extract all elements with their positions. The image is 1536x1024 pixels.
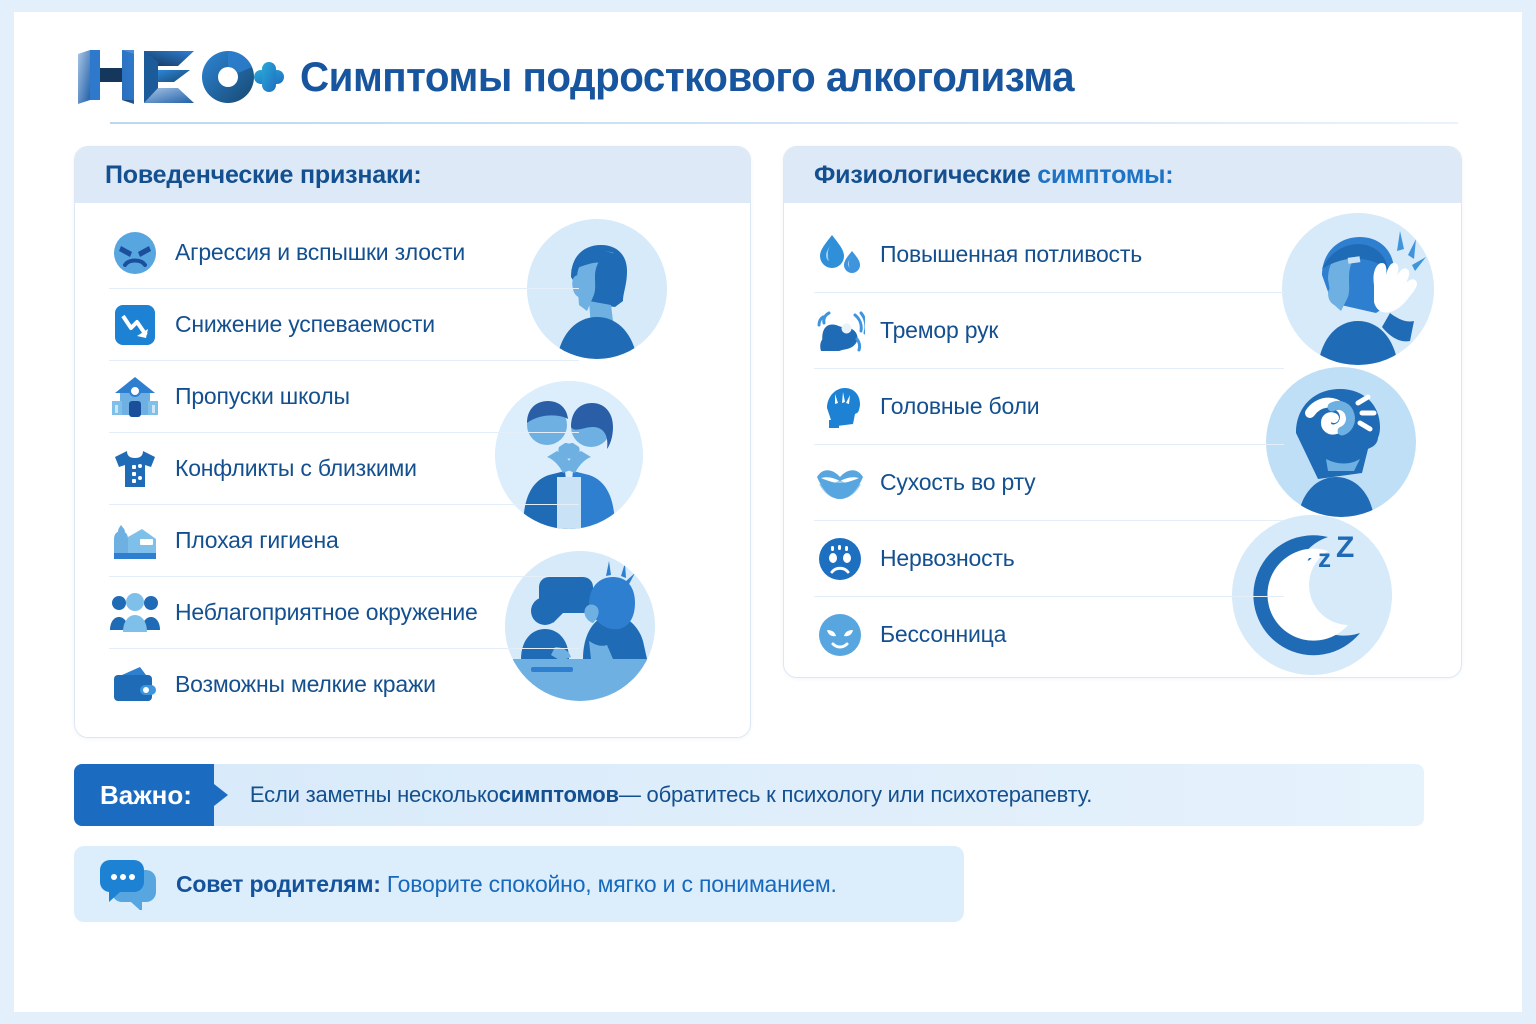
panel-header-strong: Физиологические <box>814 161 1031 189</box>
headache-illustration <box>1282 213 1434 365</box>
advice-body: Говорите спокойно, мягко и с пониманием. <box>381 871 837 897</box>
list-item[interactable]: Возможны мелкие кражи <box>109 649 579 720</box>
panels-row: Поведенческие признаки: <box>74 146 1462 738</box>
list-item-label: Плохая гигиена <box>175 527 339 554</box>
list-item-label: Агрессия и вспышки злости <box>175 239 465 266</box>
list-item[interactable]: Бессонница <box>814 597 1284 672</box>
water-drops-icon <box>814 229 866 281</box>
infographic-page: Симптомы подросткового алкоголизма Повед… <box>0 0 1536 1024</box>
svg-text:z: z <box>1318 543 1331 573</box>
worried-face-icon <box>814 533 866 585</box>
list-item[interactable]: Тремор рук <box>814 293 1284 369</box>
soap-hygiene-icon <box>109 515 161 567</box>
important-text-before: Если заметны несколько <box>250 782 499 808</box>
behavioral-item-list: Агрессия и вспышки злости Снижение усп <box>75 211 579 720</box>
panel-header-rest: симптомы: <box>1031 161 1174 189</box>
neo-plus-logo <box>74 48 284 106</box>
physiological-symptoms-panel: Физиологические симптомы: <box>783 146 1462 678</box>
important-text-bold: симптомов <box>499 782 619 808</box>
head-noise-illustration <box>1266 367 1416 517</box>
page-title: Симптомы подросткового алкоголизма <box>300 53 1074 101</box>
list-item[interactable]: Сухость во рту <box>814 445 1284 521</box>
physiological-panel-header: Физиологические симптомы: <box>784 147 1461 203</box>
list-item-label: Конфликты с близкими <box>175 455 417 482</box>
list-item-label: Пропуски школы <box>175 383 350 410</box>
list-item[interactable]: Нервозность <box>814 521 1284 597</box>
list-item-label: Неблагоприятное окружение <box>175 599 478 626</box>
tshirt-icon <box>109 443 161 495</box>
list-item[interactable]: Неблагоприятное окружение <box>109 577 579 649</box>
advice-text: Совет родителям: Говорите спокойно, мягк… <box>176 871 837 898</box>
behavioral-panel-body: Агрессия и вспышки злости Снижение усп <box>75 203 750 738</box>
group-people-icon <box>109 587 161 639</box>
speech-bubble-icon <box>100 858 158 910</box>
list-item[interactable]: Головные боли <box>814 369 1284 445</box>
svg-text:Z: Z <box>1336 531 1354 564</box>
list-item-label: Возможны мелкие кражи <box>175 671 436 698</box>
angry-face-icon <box>109 227 161 279</box>
list-item[interactable]: Агрессия и вспышки злости <box>109 217 579 289</box>
list-item[interactable]: Пропуски школы <box>109 361 579 433</box>
shaking-hand-icon <box>814 305 866 357</box>
title-divider <box>110 122 1458 124</box>
head-pain-icon <box>814 381 866 433</box>
list-item-label: Нервозность <box>880 545 1015 572</box>
important-text: Если заметны несколько симптомов — обрат… <box>214 764 1092 826</box>
behavioral-panel-header: Поведенческие признаки: <box>75 147 750 203</box>
important-tag: Важно: <box>74 764 214 826</box>
declining-chart-icon <box>109 299 161 351</box>
lips-icon <box>814 457 866 509</box>
tired-face-icon <box>814 609 866 661</box>
list-item[interactable]: Плохая гигиена <box>109 505 579 577</box>
list-item-label: Снижение успеваемости <box>175 311 435 338</box>
list-item[interactable]: Снижение успеваемости <box>109 289 579 361</box>
physiological-panel-body: z Z ˏ <box>784 203 1461 678</box>
physiological-item-list: Повышенная потливость <box>784 211 1284 672</box>
school-building-icon <box>109 371 161 423</box>
list-item[interactable]: Конфликты с близкими <box>109 433 579 505</box>
list-item-label: Тремор рук <box>880 317 998 344</box>
svg-text:ˏ: ˏ <box>1306 541 1312 561</box>
important-text-after: — обратитесь к психологу или психотерапе… <box>619 782 1092 808</box>
header: Симптомы подросткового алкоголизма <box>74 38 1462 116</box>
infographic-canvas: Симптомы подросткового алкоголизма Повед… <box>14 12 1522 1012</box>
behavioral-signs-panel: Поведенческие признаки: <box>74 146 751 738</box>
list-item-label: Повышенная потливость <box>880 241 1142 268</box>
advice-label: Совет родителям: <box>176 871 381 897</box>
wallet-icon <box>109 659 161 711</box>
important-banner: Важно: Если заметны несколько симптомов … <box>74 764 1424 826</box>
list-item[interactable]: Повышенная потливость <box>814 217 1284 293</box>
list-item-label: Бессонница <box>880 621 1006 648</box>
advice-banner: Совет родителям: Говорите спокойно, мягк… <box>74 846 964 922</box>
list-item-label: Сухость во рту <box>880 469 1035 496</box>
list-item-label: Головные боли <box>880 393 1039 420</box>
